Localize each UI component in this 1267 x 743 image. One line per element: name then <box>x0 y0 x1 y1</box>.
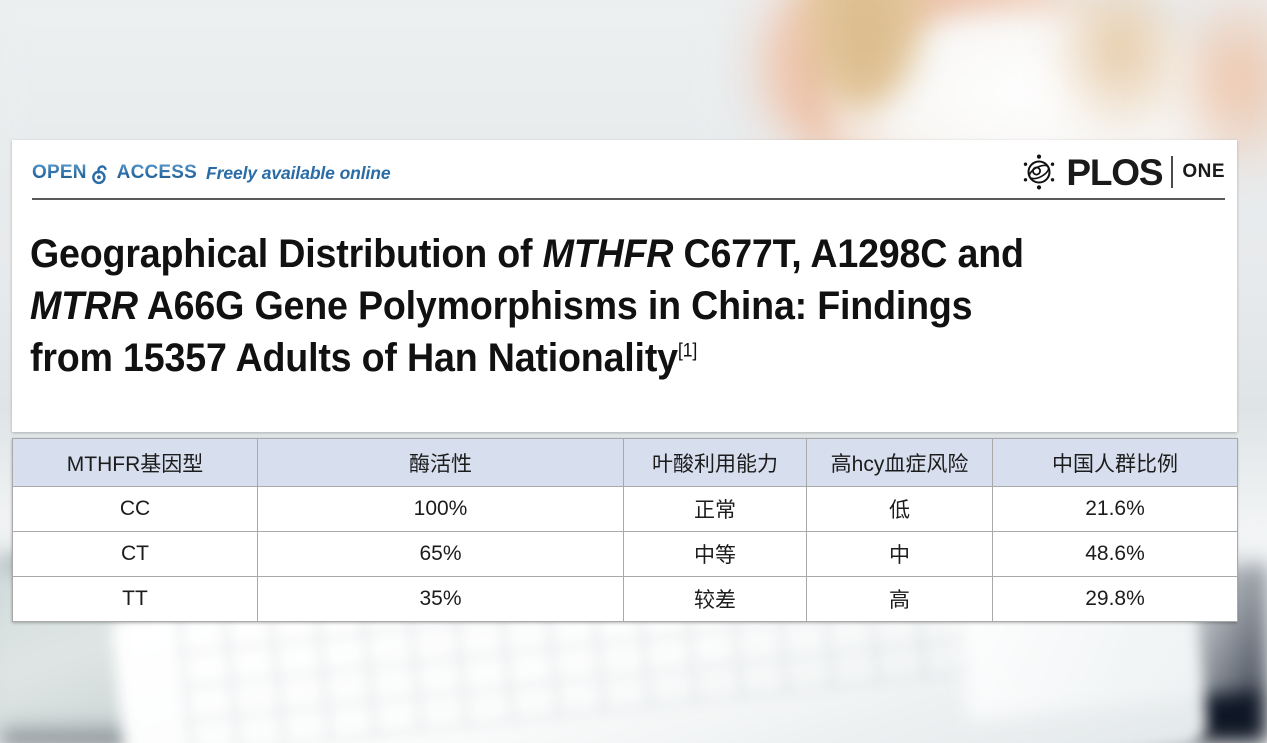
open-access-access-label: ACCESS <box>117 162 197 184</box>
title-line2-post: A66G Gene Polymorphisms in China: Findin… <box>138 284 973 328</box>
cell-folate-utilization: 中等 <box>624 532 807 577</box>
cell-folate-utilization: 正常 <box>624 487 807 532</box>
cell-population-ratio: 29.8% <box>993 577 1238 622</box>
title-line1-italic: MTHFR <box>543 232 674 276</box>
page-title: Geographical Distribution of MTHFR C677T… <box>30 228 1151 384</box>
plos-one-logo: PLOS ONE <box>1019 152 1225 192</box>
cell-genotype: TT <box>13 577 258 622</box>
plos-edition-label: ONE <box>1182 161 1225 183</box>
cell-enzyme-activity: 65% <box>258 532 624 577</box>
table-body: CC 100% 正常 低 21.6% CT 65% 中等 中 48.6% TT … <box>13 487 1238 622</box>
cell-hcy-risk: 低 <box>807 487 993 532</box>
title-line3: from 15357 Adults of Han Nationality <box>30 336 678 380</box>
cell-population-ratio: 21.6% <box>993 487 1238 532</box>
open-access-banner: OPEN ACCESS Freely available online <box>32 162 391 184</box>
table-row: TT 35% 较差 高 29.8% <box>13 577 1238 622</box>
genotype-table-container: MTHFR基因型 酶活性 叶酸利用能力 高hcy血症风险 中国人群比例 CC 1… <box>12 438 1237 622</box>
table-row: CT 65% 中等 中 48.6% <box>13 532 1238 577</box>
plos-divider <box>1171 156 1173 188</box>
plos-wordmark: PLOS <box>1066 154 1162 191</box>
open-padlock-icon <box>91 163 113 185</box>
column-header-hcy-risk: 高hcy血症风险 <box>807 439 993 487</box>
open-access-open-label: OPEN <box>32 162 87 184</box>
title-line1-pre: Geographical Distribution of <box>30 232 543 276</box>
table-header-row: MTHFR基因型 酶活性 叶酸利用能力 高hcy血症风险 中国人群比例 <box>13 439 1238 487</box>
column-header-folate-utilization: 叶酸利用能力 <box>624 439 807 487</box>
cell-enzyme-activity: 100% <box>258 487 624 532</box>
cell-genotype: CT <box>13 532 258 577</box>
title-line2-italic: MTRR <box>30 284 138 328</box>
paper-header-card: OPEN ACCESS Freely available online <box>12 140 1237 432</box>
cell-enzyme-activity: 35% <box>258 577 624 622</box>
cell-genotype: CC <box>13 487 258 532</box>
title-line1-post: C677T, A1298C and <box>673 232 1024 276</box>
plos-atom-icon <box>1019 152 1059 192</box>
column-header-population-ratio: 中国人群比例 <box>993 439 1238 487</box>
cell-folate-utilization: 较差 <box>624 577 807 622</box>
header-rule <box>32 198 1225 200</box>
cell-hcy-risk-highlighted: 高 <box>807 577 993 622</box>
table-row: CC 100% 正常 低 21.6% <box>13 487 1238 532</box>
genotype-table: MTHFR基因型 酶活性 叶酸利用能力 高hcy血症风险 中国人群比例 CC 1… <box>12 438 1238 622</box>
column-header-enzyme-activity: 酶活性 <box>258 439 624 487</box>
open-access-freely-label: Freely available online <box>206 163 390 184</box>
table-header: MTHFR基因型 酶活性 叶酸利用能力 高hcy血症风险 中国人群比例 <box>13 439 1238 487</box>
title-reference-marker: [1] <box>678 341 697 362</box>
presentation-slide: OPEN ACCESS Freely available online <box>0 0 1267 743</box>
cell-hcy-risk: 中 <box>807 532 993 577</box>
cell-population-ratio: 48.6% <box>993 532 1238 577</box>
column-header-genotype: MTHFR基因型 <box>13 439 258 487</box>
